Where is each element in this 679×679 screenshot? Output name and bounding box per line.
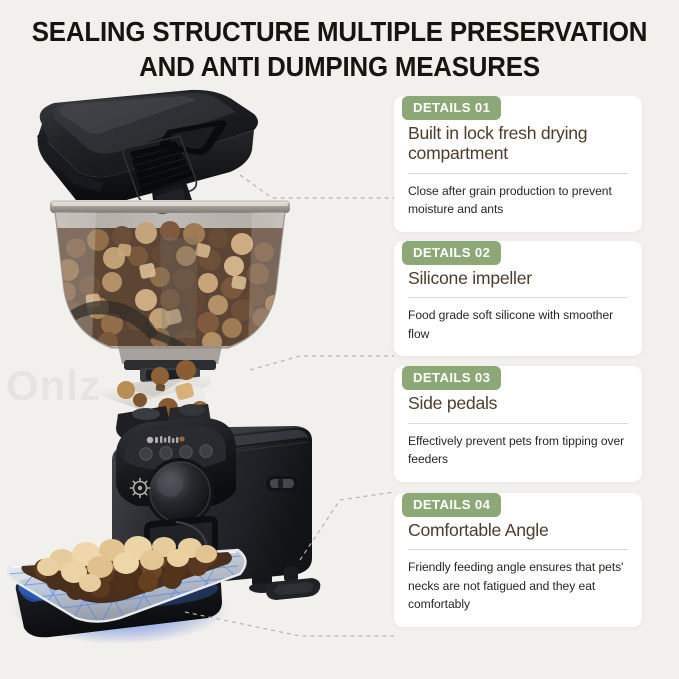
detail-text-03: Effectively prevent pets from tipping ov… (408, 432, 628, 469)
page-title: SEALING STRUCTURE MULTIPLE PRESERVATION … (0, 14, 679, 84)
feeding-bowl-part (8, 536, 246, 644)
side-latch (266, 476, 298, 491)
food-hopper-part (50, 200, 294, 382)
detail-heading-01: Built in lock fresh drying compartment (408, 123, 628, 164)
gear-icon (131, 479, 150, 498)
page-title-line-1: SEALING STRUCTURE MULTIPLE PRESERVATION (20, 14, 658, 49)
detail-badge-01: DETAILS 01 (402, 96, 501, 120)
detail-card-03[interactable]: DETAILS 03 Side pedals Effectively preve… (394, 366, 642, 481)
detail-card-02[interactable]: DETAILS 02 Silicone impeller Food grade … (394, 241, 642, 356)
detail-heading-03: Side pedals (408, 393, 628, 413)
detail-heading-02: Silicone impeller (408, 268, 628, 288)
detail-text-02: Food grade soft silicone with smoother f… (408, 306, 628, 343)
detail-heading-04: Comfortable Angle (408, 520, 628, 540)
detail-badge-03: DETAILS 03 (402, 366, 501, 390)
product-illustration (0, 88, 400, 668)
page-title-line-2: AND ANTI DUMPING MEASURES (20, 49, 658, 84)
details-card-list: DETAILS 01 Built in lock fresh drying co… (394, 96, 642, 635)
detail-divider-03 (408, 423, 628, 424)
detail-divider-01 (408, 173, 628, 174)
detail-card-04[interactable]: DETAILS 04 Comfortable Angle Friendly fe… (394, 493, 642, 627)
detail-text-01: Close after grain production to prevent … (408, 182, 628, 219)
kibble-fill (50, 212, 294, 352)
detail-text-04: Friendly feeding angle ensures that pets… (408, 558, 628, 614)
detail-badge-02: DETAILS 02 (402, 241, 501, 265)
detail-divider-02 (408, 297, 628, 298)
detail-badge-04: DETAILS 04 (402, 493, 501, 517)
detail-divider-04 (408, 549, 628, 550)
detail-card-01[interactable]: DETAILS 01 Built in lock fresh drying co… (394, 96, 642, 232)
sealing-lid-part (37, 90, 258, 214)
